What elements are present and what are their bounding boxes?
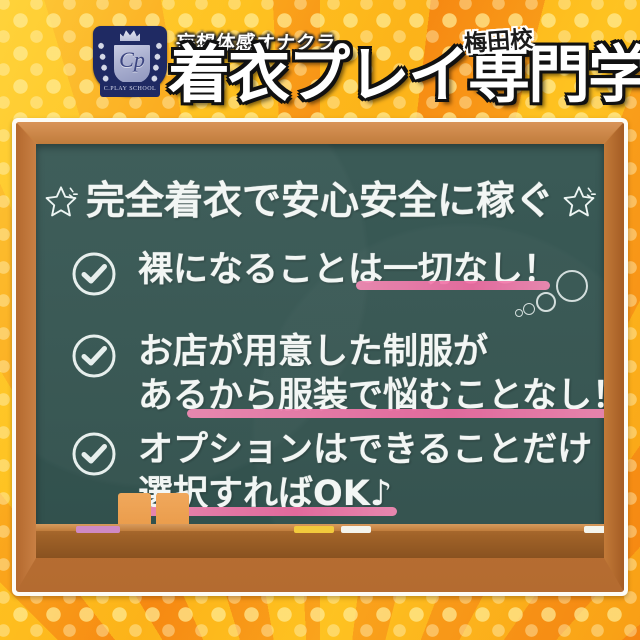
check-circle-icon bbox=[70, 430, 118, 478]
frame-bevel-right bbox=[604, 122, 624, 592]
crest-monogram: Cp bbox=[114, 49, 150, 71]
bubble-medium-icon bbox=[536, 292, 556, 312]
list-item-text: オプションはできることだけ bbox=[138, 430, 592, 470]
list-item-text: お店が用意した制服が bbox=[138, 332, 488, 372]
list-item-body: 裸になることは一切なし！ bbox=[138, 248, 586, 292]
header-title: 着衣プレイ専門学校 bbox=[168, 44, 640, 106]
list-item-line: 裸になることは一切なし！ bbox=[138, 248, 558, 292]
branch-badge: 梅田校 bbox=[463, 20, 534, 59]
chalk-white-1 bbox=[341, 526, 371, 533]
bubble-small-icon bbox=[523, 303, 535, 315]
list-item-body: お店が用意した制服が あるから服装で悩むことなし！ bbox=[138, 330, 586, 418]
board-headline-text: 完全着衣で安心安全に稼ぐ bbox=[86, 179, 554, 224]
school-crest-logo: Cp C.PLAY SCHOOL bbox=[93, 26, 167, 104]
list-item: お店が用意した制服が あるから服装で悩むことなし！ bbox=[70, 330, 586, 418]
list-item-body: オプションはできることだけ 選択すればOK♪ bbox=[138, 428, 586, 516]
chalk-pink bbox=[76, 526, 120, 533]
star-left-icon bbox=[44, 183, 78, 217]
chalk-white-2 bbox=[584, 526, 604, 533]
header-banner: Cp C.PLAY SCHOOL 妄想体感オナクラ 着衣プレイ専門学校 梅田校 bbox=[0, 0, 640, 112]
check-circle-icon bbox=[70, 332, 118, 380]
list-item-line: オプションはできることだけ bbox=[138, 428, 592, 472]
board-headline: 完全着衣で安心安全に稼ぐ bbox=[36, 170, 604, 226]
list-item-line: お店が用意した制服が bbox=[138, 330, 488, 374]
chalk-yellow bbox=[294, 526, 334, 533]
frame-bevel-left bbox=[16, 122, 36, 592]
list-item: 裸になることは一切なし！ bbox=[70, 248, 586, 292]
chalkboard-wood-frame: 完全着衣で安心安全に稼ぐ bbox=[16, 122, 624, 592]
crest-inner-shield: Cp bbox=[112, 43, 152, 85]
chalkboard-surface: 完全着衣で安心安全に稼ぐ bbox=[36, 144, 604, 558]
crest-ribbon-text: C.PLAY SCHOOL bbox=[100, 82, 160, 97]
crown-icon bbox=[120, 29, 140, 41]
pink-underline bbox=[187, 409, 604, 418]
pink-underline bbox=[356, 281, 549, 290]
chalkboard-outer-border: 完全着衣で安心安全に稼ぐ bbox=[12, 118, 628, 596]
bubble-tiny-icon bbox=[515, 309, 523, 317]
frame-bevel-top bbox=[16, 122, 624, 144]
check-circle-icon bbox=[70, 250, 118, 298]
poster-canvas: Cp C.PLAY SCHOOL 妄想体感オナクラ 着衣プレイ専門学校 梅田校 bbox=[0, 0, 640, 640]
list-item-line: あるから服装で悩むことなし！ bbox=[138, 374, 604, 418]
star-right-icon bbox=[562, 183, 596, 217]
